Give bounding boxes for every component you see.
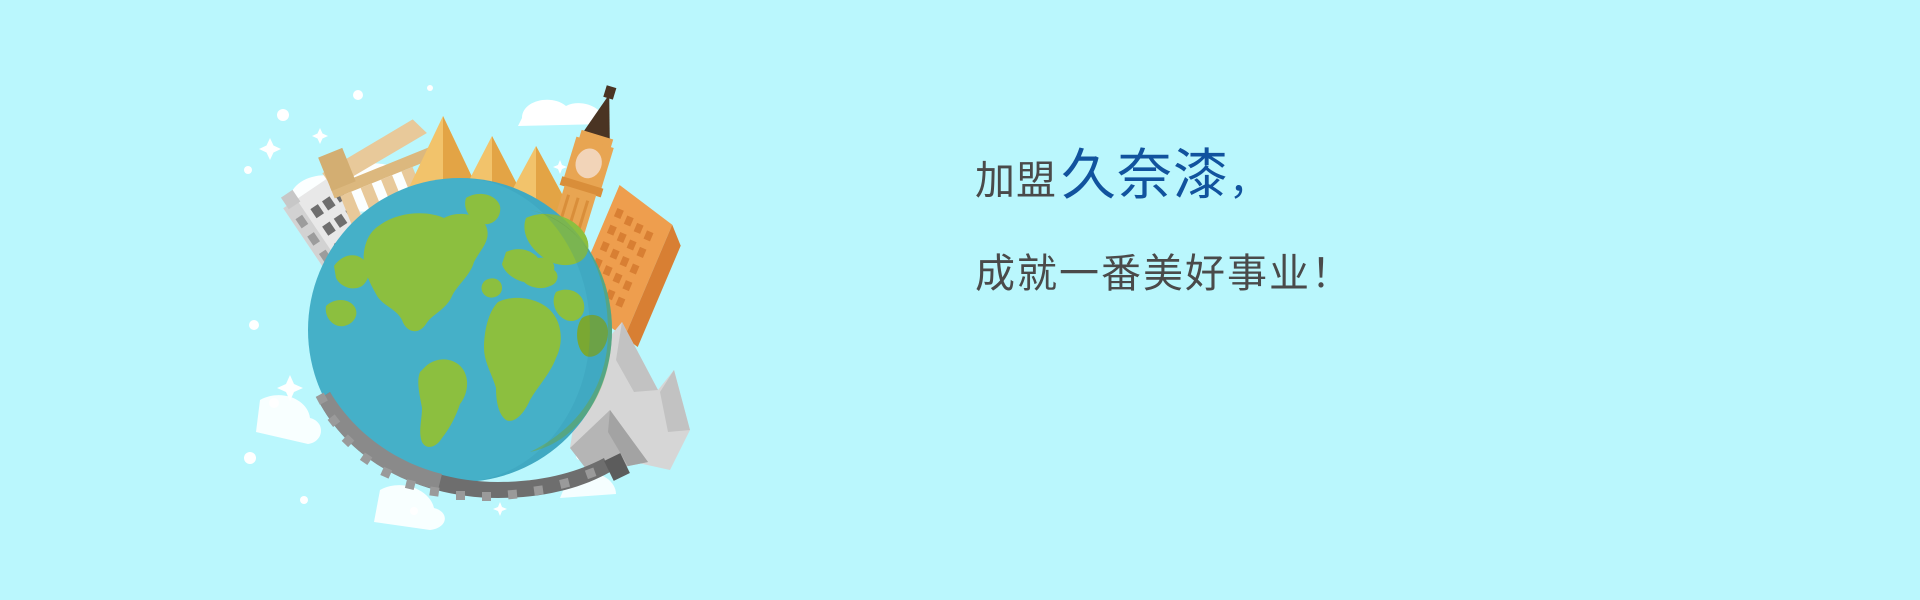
brand-name: 久奈漆 [1061, 148, 1229, 203]
headline-subtitle: 成就一番美好事业！ [975, 252, 1353, 296]
headline-line-2: 成就一番美好事业！ [975, 254, 1695, 294]
headline-comma: ， [1229, 161, 1269, 201]
headline-prefix: 加盟 [975, 161, 1057, 201]
promo-banner: 加盟 久奈漆 ， 成就一番美好事业！ [0, 0, 1920, 600]
headline-block: 加盟 久奈漆 ， 成就一番美好事业！ [975, 148, 1695, 338]
headline-line-1: 加盟 久奈漆 ， [975, 148, 1695, 220]
globe-illustration [230, 70, 690, 530]
